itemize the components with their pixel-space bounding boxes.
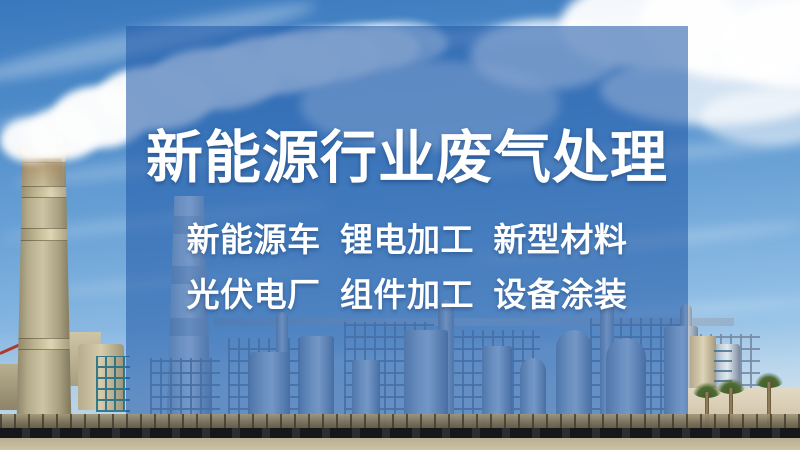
smokestack-rust-stain xyxy=(22,158,62,192)
steel-truss xyxy=(96,356,130,412)
banner-headline: 新能源行业废气处理 xyxy=(126,130,688,187)
banner-text-block: 新能源行业废气处理 新能源车 锂电加工 新型材料 光伏电厂 组件加工 设备涂装 xyxy=(126,26,688,428)
banner-subtitle-line-1: 新能源车 锂电加工 新型材料 xyxy=(126,223,688,256)
stack-band xyxy=(10,338,78,350)
banner-image: 新能源行业废气处理 新能源车 锂电加工 新型材料 光伏电厂 组件加工 设备涂装 xyxy=(0,0,800,450)
banner-subtitle-line-2: 光伏电厂 组件加工 设备涂装 xyxy=(126,278,688,311)
shoreline-strip xyxy=(0,438,800,450)
main-smokestack xyxy=(16,148,72,450)
